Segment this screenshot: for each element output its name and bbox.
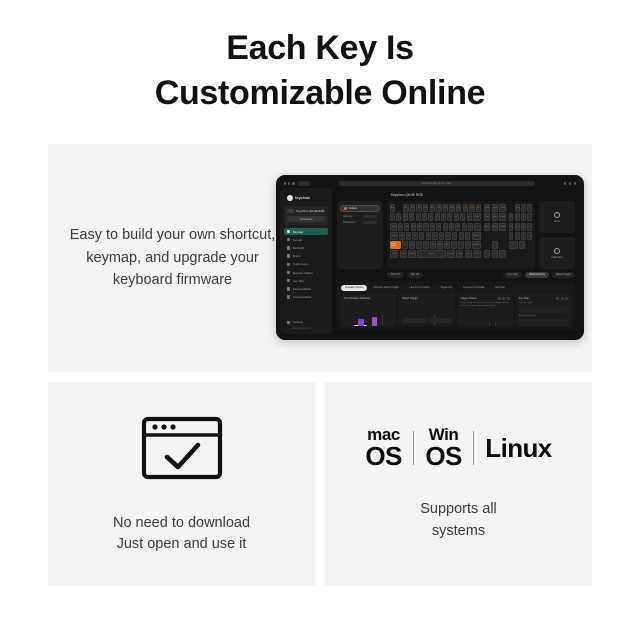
key-backslash[interactable]: \: [474, 223, 481, 231]
key[interactable]: F5: [430, 204, 435, 212]
key-num-multiply[interactable]: *: [527, 204, 532, 212]
gear-icon: [287, 321, 290, 324]
os-logo-row: mac OS Win OS Linux: [365, 426, 551, 469]
sidebar-item-label: Macro: [293, 254, 301, 258]
key[interactable]: F9: [456, 204, 461, 212]
key[interactable]: G: [426, 232, 431, 240]
key-scrlk[interactable]: Lock: [492, 204, 499, 212]
key-num-3[interactable]: 3: [521, 232, 526, 240]
sidebar-item-label: Encoder Setting: [293, 271, 313, 275]
key[interactable]: ]: [468, 223, 473, 231]
layer-default-button[interactable]: Default: [340, 205, 380, 212]
key[interactable]: F10: [463, 204, 468, 212]
browser-tab[interactable]: [298, 181, 310, 186]
key[interactable]: F2: [410, 204, 415, 212]
main-device-title: Keychron Q6 HE RGB: [337, 193, 575, 197]
caption-line-2: systems: [420, 521, 497, 542]
panel-rapid-trigger: Rapid Trigger: [399, 294, 454, 327]
keyboard-row: Ctrl Opt Cmd Space Cmd Opt Fn Ctrl: [390, 250, 481, 258]
key[interactable]: T: [423, 223, 428, 231]
key-tab[interactable]: Tab: [390, 223, 397, 231]
app-version: Launcher v1.14.2: [284, 327, 328, 330]
key-num-plus[interactable]: +: [527, 223, 532, 231]
key[interactable]: F11: [469, 204, 474, 212]
device-thumbnail-icon: [287, 209, 294, 213]
sidebar-item-encoder-setting[interactable]: Encoder Setting: [284, 269, 328, 276]
sidebar-footer: Settings Launcher v1.14.2: [284, 319, 328, 330]
key-spacer: [397, 204, 402, 212]
key-arrow-right[interactable]: →: [499, 250, 506, 258]
assign-value-field[interactable]: [519, 319, 568, 326]
key-num-7[interactable]: 7: [509, 213, 514, 221]
tab-toggle-key[interactable]: Toggle Key: [436, 285, 456, 291]
key[interactable]: F12: [476, 204, 481, 212]
pill-advanced-key[interactable]: Advanced Key: [525, 272, 549, 278]
switch-illustration: [344, 303, 393, 327]
key[interactable]: F4: [423, 204, 428, 212]
sidebar-item-label: Backlight: [293, 246, 304, 250]
panel-footer-buttons: [402, 318, 451, 323]
keyboard-row: Tab Q W E R T Y U I: [390, 223, 481, 231]
key-num-divide[interactable]: /: [521, 204, 526, 212]
current-layer-field[interactable]: [519, 305, 568, 313]
layer-slider[interactable]: [363, 221, 377, 224]
sidebar-item-key-test[interactable]: Key Test: [284, 277, 328, 284]
sidebar-item-remap[interactable]: Remap: [284, 236, 328, 243]
sidebar-item-keymap[interactable]: Keymap: [284, 228, 328, 235]
key-highlighted[interactable]: Caps Lock: [390, 241, 401, 249]
key-test-icon: [287, 279, 290, 282]
key-arrow-left[interactable]: ←: [484, 250, 491, 258]
keycap-switch-icon: [354, 325, 367, 327]
pill-rapid-trigger[interactable]: Rapid Trigger: [552, 272, 575, 278]
layer-slider[interactable]: [363, 215, 377, 218]
key[interactable]: V: [423, 241, 429, 249]
key-cmd-right[interactable]: Cmd: [447, 250, 455, 258]
page-title-line-1: Each Key Is: [0, 26, 640, 71]
key[interactable]: ,: [451, 241, 457, 249]
key-spacer: [484, 232, 491, 240]
key-feedback-icon: [287, 287, 290, 290]
key[interactable]: Esc: [390, 204, 395, 212]
key-pause[interactable]: Pau: [499, 204, 506, 212]
key-insert[interactable]: Ins: [484, 213, 491, 221]
page-title-line-2: Customizable Online: [0, 71, 640, 116]
key-cmd-left[interactable]: Cmd: [408, 250, 416, 258]
key[interactable]: F8: [449, 204, 454, 212]
key[interactable]: Q: [398, 223, 403, 231]
keyboard-row-function: Esc F1 F2 F3 F4 F5 F6 F: [390, 204, 532, 258]
sidebar-item-key-feedback[interactable]: Key Feedback: [284, 285, 328, 292]
calibration-button[interactable]: Calibration: [539, 237, 575, 269]
key[interactable]: ;: [459, 232, 464, 240]
travel-axis: [382, 315, 383, 327]
backlight-icon: [287, 246, 290, 249]
sidebar-item-label: Remap: [293, 238, 302, 242]
page-title: Each Key Is Customizable Online: [0, 0, 640, 116]
key-spacer: [509, 250, 514, 258]
sidebar-item-label: Quick Jump: [293, 262, 308, 266]
panel-trigger-demo: Trigger Demo Press a key and see it in t…: [458, 294, 513, 327]
advanced-tabs: Actuation Points Dynamic Rapid Trigger L…: [341, 285, 571, 291]
app-window-mockup: launcher.keychron.com keychron Keychron …: [276, 175, 584, 340]
quick-jump-icon: [287, 263, 290, 266]
key-num-0[interactable]: 0: [509, 241, 518, 249]
caption-line-2: Just open and use it: [113, 534, 250, 555]
keyboard-row: Caps A S D F G H J K: [390, 232, 481, 240]
key[interactable]: K: [445, 232, 450, 240]
key-prtsc[interactable]: PrtSc: [484, 204, 491, 212]
graph-line: [495, 323, 496, 326]
key-spacer: [515, 250, 520, 258]
key[interactable]: F3: [416, 204, 421, 212]
key-shift-right[interactable]: Shift: [472, 241, 481, 249]
key-num-minus[interactable]: -: [527, 213, 532, 221]
key-spacer: [521, 250, 526, 258]
key[interactable]: 1: [396, 213, 401, 221]
key-num-2[interactable]: 2: [515, 232, 520, 240]
key[interactable]: F: [419, 232, 424, 240]
key[interactable]: B: [430, 241, 436, 249]
key-num-1[interactable]: 1: [509, 232, 514, 240]
sidebar-item-settings[interactable]: Settings: [284, 319, 328, 326]
key[interactable]: D: [412, 232, 417, 240]
sidebar-item-quick-jump[interactable]: Quick Jump: [284, 261, 328, 268]
sidebar-item-label: Key Test: [293, 279, 304, 283]
key[interactable]: 0: [454, 213, 459, 221]
key[interactable]: 8: [441, 213, 446, 221]
keymap-icon: [287, 230, 290, 233]
key[interactable]: J: [439, 232, 444, 240]
key-spacer: [492, 232, 499, 240]
key[interactable]: 6: [428, 213, 433, 221]
browser-toolbar: launcher.keychron.com: [280, 179, 580, 188]
tab-dynamic-keystroke[interactable]: Dynamic Keystroke: [459, 285, 489, 291]
sidebar-item-backlight[interactable]: Backlight: [284, 244, 328, 251]
panel-controls[interactable]: [498, 297, 510, 300]
calibration-icon: [554, 248, 560, 254]
layer-dot-icon: [344, 207, 347, 210]
reset-label: Reset: [554, 220, 560, 223]
advanced-key-panel: Actuation Points Dynamic Rapid Trigger L…: [337, 281, 575, 331]
panel-key-map: Key Map Current Layer Assign New Value: [516, 294, 571, 327]
app-main: Keychron Q6 HE RGB Default Gaming: [332, 188, 580, 334]
key-pagedown[interactable]: PgD: [499, 223, 506, 231]
sidebar-item-label: Key Feedback: [293, 287, 311, 291]
tab-dynamic-rapid-trigger[interactable]: Dynamic Rapid Trigger: [370, 285, 403, 291]
key[interactable]: -: [460, 213, 465, 221]
key[interactable]: ': [465, 232, 470, 240]
keyboard-layout[interactable]: Esc F1 F2 F3 F4 F5 F6 F: [387, 201, 535, 269]
key[interactable]: Z: [402, 241, 408, 249]
cards-container: Easy to build your own shortcut, keymap,…: [48, 144, 592, 586]
key-space[interactable]: Space: [417, 250, 446, 258]
key-delete[interactable]: Del: [484, 223, 491, 231]
tab-actuation-points[interactable]: Actuation Points: [341, 285, 367, 291]
pill-mac-off[interactable]: Mac Off: [387, 272, 404, 278]
key-num-9[interactable]: 9: [521, 213, 526, 221]
graph-line: [489, 323, 490, 326]
os-divider: [473, 431, 475, 465]
macro-icon: [287, 254, 290, 257]
browser-url-bar[interactable]: launcher.keychron.com: [339, 181, 535, 187]
browser-url-text: launcher.keychron.com: [422, 182, 451, 185]
calibration-label: Calibration: [551, 256, 562, 259]
keychron-launcher-app: keychron Keychron Q6 HE RGB Connected Ke…: [280, 188, 580, 334]
keyboard-numpad: Num/* 789- 456+ 123⏎ 0.: [509, 204, 532, 258]
app-sidebar: keychron Keychron Q6 HE RGB Connected Ke…: [280, 188, 332, 334]
pill-key-type[interactable]: Key Type: [503, 272, 521, 278]
tab-mod-tap[interactable]: Mod Tap: [491, 285, 509, 291]
trigger-demo-illustration: [461, 311, 510, 326]
key-fn[interactable]: Fn: [465, 250, 472, 258]
feature-card-customize: Easy to build your own shortcut, keymap,…: [48, 144, 592, 372]
key[interactable]: A: [399, 232, 404, 240]
travel-bar-icon: [372, 317, 377, 327]
device-connect-button[interactable]: Connected: [287, 216, 325, 222]
browser-window-check-icon: [139, 413, 225, 483]
key-ctrl-right[interactable]: Ctrl: [473, 250, 481, 258]
layer-label: Password: [343, 221, 355, 224]
layer-selector: Default Gaming Password: [337, 201, 383, 269]
key[interactable]: F6: [436, 204, 441, 212]
key-num-dot[interactable]: .: [519, 241, 525, 249]
key-opt-left[interactable]: Opt: [400, 250, 407, 258]
key[interactable]: 7: [435, 213, 440, 221]
sidebar-item-label: Keymap: [293, 230, 303, 234]
key[interactable]: F7: [443, 204, 448, 212]
layer-label: Default: [349, 207, 358, 210]
advance-mode-icon: [287, 295, 290, 298]
sidebar-item-label: Settings: [293, 320, 303, 324]
editor-side-buttons: Reset Calibration: [539, 201, 575, 269]
os-logo-linux: Linux: [485, 435, 551, 461]
key-spacer: [527, 250, 532, 258]
key-pageup[interactable]: PgU: [499, 213, 506, 221]
sidebar-item-macro[interactable]: Macro: [284, 253, 328, 260]
key-home[interactable]: Hm: [492, 213, 499, 221]
keyboard-rows: Esc F1 F2 F3 F4 F5 F6 F: [390, 204, 532, 258]
key-enter[interactable]: Enter: [472, 232, 481, 240]
key[interactable]: 3: [409, 213, 414, 221]
key-num-6[interactable]: 6: [521, 223, 526, 231]
reset-icon: [554, 212, 560, 218]
key[interactable]: .: [458, 241, 464, 249]
key-spacer: [499, 232, 506, 240]
browser-traffic-lights[interactable]: [284, 182, 295, 184]
key[interactable]: P: [455, 223, 460, 231]
key-num-lock[interactable]: Num: [515, 204, 520, 212]
keyboard-nav-cluster: PrtScLockPau InsHmPgU DelEndPgD ↑ ←↓→: [484, 204, 506, 258]
key[interactable]: Y: [430, 223, 435, 231]
key-opt-right[interactable]: Opt: [456, 250, 463, 258]
key[interactable]: M: [444, 241, 450, 249]
key[interactable]: 2: [403, 213, 408, 221]
keychron-logo-icon: [287, 195, 293, 201]
mode-pill-row: Mac Off Win Off Key Type Advanced Key Ra…: [337, 272, 575, 278]
key[interactable]: U: [436, 223, 441, 231]
apply-all-button[interactable]: [428, 318, 452, 323]
key-ctrl-left[interactable]: Ctrl: [390, 250, 398, 258]
key[interactable]: F1: [403, 204, 408, 212]
panel-title: Rapid Trigger: [402, 297, 451, 300]
os-suffix: OS: [365, 443, 401, 469]
caption-line-1: No need to download: [113, 513, 250, 534]
os-divider: [413, 431, 415, 465]
os-logo-windows: Win OS: [425, 426, 461, 469]
key[interactable]: [: [462, 223, 467, 231]
layer-label: Gaming: [343, 215, 352, 218]
device-name: Keychron Q6 HE RGB: [297, 209, 325, 213]
os-logo-macos: mac OS: [365, 426, 401, 469]
os-suffix: OS: [425, 443, 461, 469]
key[interactable]: 9: [447, 213, 452, 221]
connected-device-card[interactable]: Keychron Q6 HE RGB Connected: [284, 206, 328, 225]
sidebar-item-advance-mode[interactable]: Advance Mode: [284, 294, 328, 301]
key-num-enter[interactable]: ⏎: [527, 232, 532, 240]
no-download-caption: No need to download Just open and use it: [113, 513, 250, 555]
feature-card-no-download: No need to download Just open and use it: [48, 382, 315, 586]
key[interactable]: N: [437, 241, 443, 249]
os-suffix: Linux: [485, 435, 551, 461]
key-backspace[interactable]: Del: [473, 213, 481, 221]
bottom-cards-row: No need to download Just open and use it…: [48, 382, 592, 586]
key[interactable]: L: [452, 232, 457, 240]
app-brand-name: keychron: [295, 196, 310, 200]
app-brand: keychron: [284, 193, 328, 206]
panel-title: Set Actuation Distance: [344, 297, 393, 300]
key[interactable]: 5: [422, 213, 427, 221]
panel-actuation-distance: Set Actuation Distance: [341, 294, 396, 327]
key[interactable]: 4: [416, 213, 421, 221]
key[interactable]: I: [443, 223, 448, 231]
key[interactable]: /: [465, 241, 471, 249]
key[interactable]: C: [416, 241, 422, 249]
keyboard-row: Caps Lock Z X C V B N M: [390, 241, 481, 249]
pill-win-off[interactable]: Win Off: [407, 272, 423, 278]
layer-gaming-row[interactable]: Gaming: [340, 215, 380, 218]
encoder-icon: [287, 271, 290, 274]
feature-card-supports-systems: mac OS Win OS Linux Supports all systems: [325, 382, 592, 586]
key[interactable]: =: [467, 213, 472, 221]
reset-button[interactable]: Reset: [539, 201, 575, 233]
key-spacer: [509, 204, 514, 212]
key[interactable]: X: [409, 241, 415, 249]
panel-subtitle: Press a key and see it in the graph belo…: [461, 302, 510, 309]
key-num-8[interactable]: 8: [515, 213, 520, 221]
key[interactable]: E: [411, 223, 416, 231]
key[interactable]: O: [449, 223, 454, 231]
panel-controls[interactable]: [556, 297, 568, 300]
layer-password-row[interactable]: Password: [340, 221, 380, 224]
reset-all-button[interactable]: [402, 318, 426, 323]
feature-card-text: Easy to build your own shortcut, keymap,…: [48, 224, 283, 291]
sidebar-nav-list: Keymap Remap Backlight Macro: [284, 228, 328, 301]
key[interactable]: H: [432, 232, 437, 240]
key-spacer: [499, 241, 506, 249]
sidebar-item-label: Advance Mode: [293, 295, 312, 299]
panel-row: Set Actuation Distance Rapid Trigger: [341, 294, 571, 327]
tab-last-press-priority[interactable]: Last Press Priority: [406, 285, 434, 291]
keyboard-row: ~ 1 2 3 4 5 6 7 8: [390, 213, 481, 221]
key[interactable]: R: [417, 223, 422, 231]
supports-systems-caption: Supports all systems: [420, 499, 497, 541]
key-spacer: [484, 241, 491, 249]
browser-window-controls[interactable]: [564, 182, 576, 184]
key-arrow-down[interactable]: ↓: [492, 250, 499, 258]
key[interactable]: S: [406, 232, 411, 240]
caption-line-1: Supports all: [420, 499, 497, 520]
key[interactable]: W: [404, 223, 409, 231]
key-num-5[interactable]: 5: [515, 223, 520, 231]
key-num-4[interactable]: 4: [509, 223, 514, 231]
key-caps-lock[interactable]: Caps: [390, 232, 398, 240]
key-spacer: [526, 241, 532, 249]
key-end[interactable]: End: [492, 223, 499, 231]
key[interactable]: ~: [390, 213, 395, 221]
remap-icon: [287, 238, 290, 241]
keymap-editor-area: Default Gaming Password: [337, 201, 575, 269]
keyboard-row: Esc F1 F2 F3 F4 F5 F6 F: [390, 204, 481, 212]
key-arrow-up[interactable]: ↑: [492, 241, 499, 249]
